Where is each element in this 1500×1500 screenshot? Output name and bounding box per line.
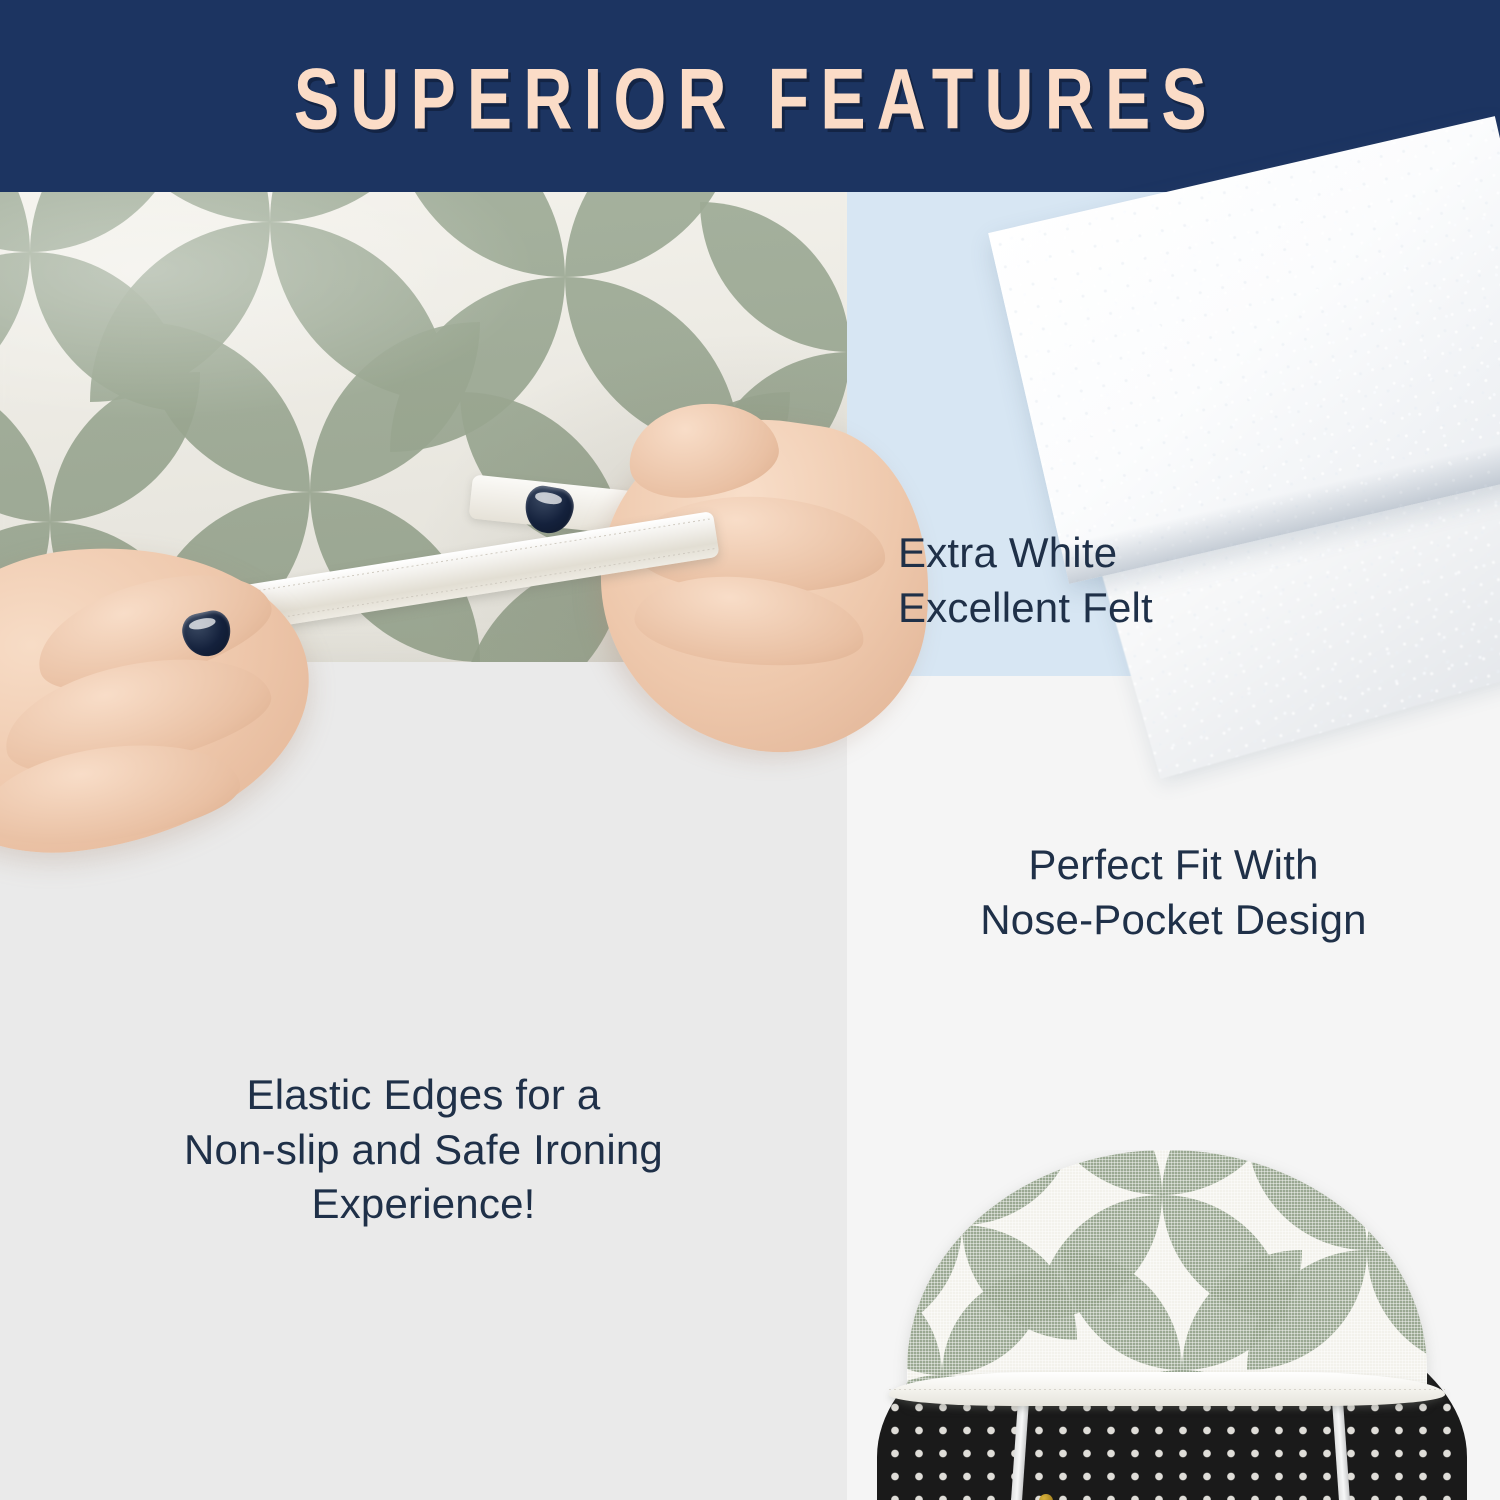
caption-fit-line-2: Nose-Pocket Design — [847, 893, 1500, 948]
cover-nose — [907, 1150, 1427, 1400]
header-banner: SUPERIOR FEATURES — [0, 0, 1500, 192]
caption-elastic-line-3: Experience! — [0, 1177, 847, 1232]
caption-fit-line-1: Perfect Fit With — [847, 838, 1500, 893]
caption-felt-line-1: Extra White — [898, 526, 1153, 581]
caption-felt-line-2: Excellent Felt — [898, 581, 1153, 636]
caption-felt: Extra White Excellent Felt — [898, 526, 1153, 635]
caption-nose-pocket: Perfect Fit With Nose-Pocket Design — [847, 838, 1500, 947]
caption-elastic-edges: Elastic Edges for a Non-slip and Safe Ir… — [0, 1068, 847, 1232]
ironing-board-nose-icon — [847, 1150, 1500, 1500]
page-title: SUPERIOR FEATURES — [282, 50, 1217, 143]
caption-elastic-line-2: Non-slip and Safe Ironing — [0, 1123, 847, 1178]
caption-elastic-line-1: Elastic Edges for a — [0, 1068, 847, 1123]
infographic-canvas: SUPERIOR FEATURES — [0, 0, 1500, 1500]
cover-elastic-trim — [889, 1372, 1445, 1406]
pinwheel-petal-icon — [1247, 1150, 1427, 1370]
